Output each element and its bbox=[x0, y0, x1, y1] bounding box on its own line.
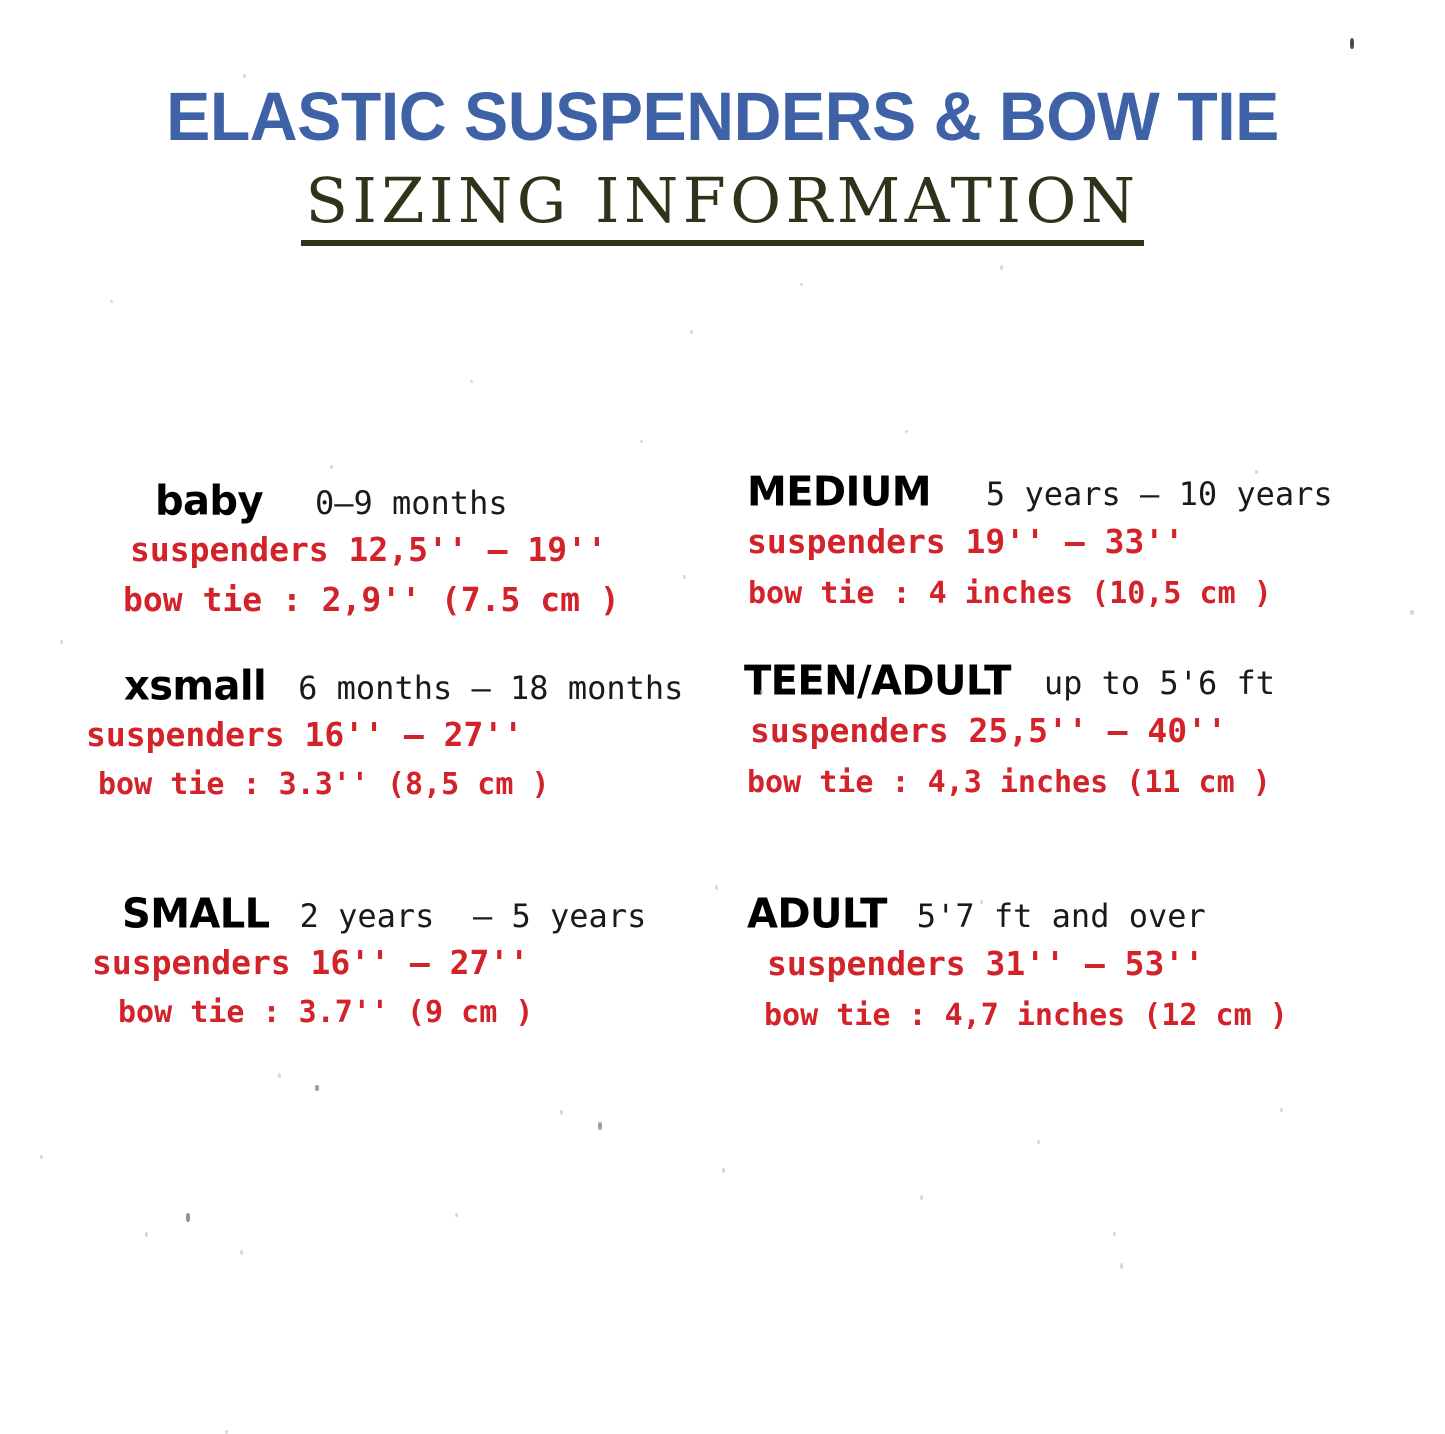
size-age-range: 0–9 months bbox=[263, 481, 508, 525]
size-label: SMALL bbox=[122, 891, 270, 938]
subtitle-container: SIZING INFORMATION bbox=[0, 166, 1445, 246]
size-entry-teen-adult: TEEN/ADULT up to 5'6 ft suspenders 25,5'… bbox=[722, 658, 1275, 809]
bow-tie-measurement: bow tie : 4 inches (10,5 cm ) bbox=[722, 568, 1333, 620]
size-age-range: up to 5'6 ft bbox=[1011, 661, 1275, 705]
size-entry-baby: baby 0–9 months suspenders 12,5'' – 19''… bbox=[0, 478, 620, 625]
size-entry-adult: ADULT 5'7 ft and over suspenders 31'' – … bbox=[722, 891, 1288, 1042]
size-entry-small: SMALL 2 years – 5 years suspenders 16'' … bbox=[0, 891, 646, 1038]
size-label: baby bbox=[155, 478, 263, 525]
size-header-row: xsmall 6 months – 18 months bbox=[0, 663, 683, 710]
page-subtitle: SIZING INFORMATION bbox=[301, 166, 1143, 246]
bow-tie-measurement: bow tie : 3.7'' (9 cm ) bbox=[0, 988, 646, 1038]
size-header-row: TEEN/ADULT up to 5'6 ft bbox=[722, 658, 1275, 705]
page-header: ELASTIC SUSPENDERS & BOW TIE SIZING INFO… bbox=[0, 0, 1445, 246]
suspenders-measurement: suspenders 16'' – 27'' bbox=[0, 938, 646, 988]
size-age-range: 5'7 ft and over bbox=[887, 894, 1206, 938]
suspenders-measurement: suspenders 19'' – 33'' bbox=[722, 516, 1333, 568]
size-header-row: ADULT 5'7 ft and over bbox=[722, 891, 1288, 938]
bow-tie-measurement: bow tie : 2,9'' (7.5 cm ) bbox=[0, 575, 620, 625]
size-label: xsmall bbox=[124, 663, 266, 710]
size-label: TEEN/ADULT bbox=[744, 658, 1011, 705]
size-age-range: 5 years – 10 years bbox=[931, 472, 1333, 516]
page-title: ELASTIC SUSPENDERS & BOW TIE bbox=[29, 0, 1416, 155]
size-label: MEDIUM bbox=[747, 469, 931, 516]
size-label: ADULT bbox=[747, 891, 887, 938]
size-header-row: SMALL 2 years – 5 years bbox=[0, 891, 646, 938]
size-entry-xsmall: xsmall 6 months – 18 months suspenders 1… bbox=[0, 663, 683, 810]
size-entry-medium: MEDIUM 5 years – 10 years suspenders 19'… bbox=[722, 469, 1333, 620]
size-header-row: MEDIUM 5 years – 10 years bbox=[722, 469, 1333, 516]
bow-tie-measurement: bow tie : 4,3 inches (11 cm ) bbox=[722, 757, 1275, 809]
size-age-range: 2 years – 5 years bbox=[270, 894, 647, 938]
bow-tie-measurement: bow tie : 3.3'' (8,5 cm ) bbox=[0, 760, 683, 810]
suspenders-measurement: suspenders 25,5'' – 40'' bbox=[722, 705, 1275, 757]
bow-tie-measurement: bow tie : 4,7 inches (12 cm ) bbox=[722, 990, 1288, 1042]
size-header-row: baby 0–9 months bbox=[0, 478, 620, 525]
size-age-range: 6 months – 18 months bbox=[266, 666, 683, 710]
suspenders-measurement: suspenders 31'' – 53'' bbox=[722, 938, 1288, 990]
suspenders-measurement: suspenders 16'' – 27'' bbox=[0, 710, 683, 760]
suspenders-measurement: suspenders 12,5'' – 19'' bbox=[0, 525, 620, 575]
